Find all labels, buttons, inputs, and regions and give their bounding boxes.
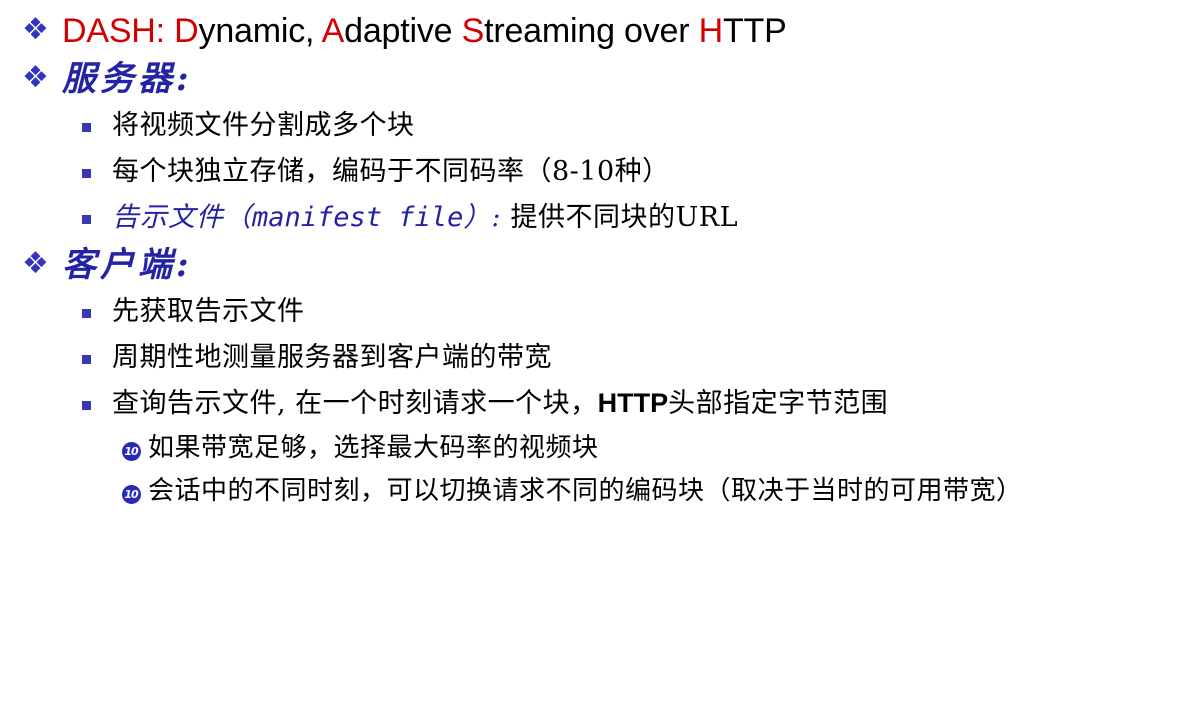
title-segment-ynamic: ynamic,	[199, 12, 322, 50]
square-bullet-icon	[82, 150, 112, 195]
client-item-3-pre: 查询告示文件, 在一个时刻请求一个块，	[112, 388, 598, 419]
manifest-label-cjk: 告示文件（	[112, 202, 252, 233]
sub-list-item: 10 如果带宽足够，选择最大码率的视频块	[10, 428, 1194, 471]
client-subitem-1-label: 如果带宽足够，选择最大码率的视频块	[148, 428, 1194, 469]
presentation-slide: ❖ DASH: Dynamic, Adaptive Streaming over…	[0, 0, 1204, 720]
diamond-bullet-icon: ❖	[22, 8, 62, 52]
server-item-3: 告示文件（manifest file）: 提供不同块的URL	[112, 196, 1194, 239]
list-item: 查询告示文件, 在一个时刻请求一个块，HTTP头部指定字节范围	[10, 382, 1194, 427]
client-item-3-protocol: HTTP	[598, 388, 669, 418]
title-segment-a: A	[322, 12, 344, 50]
circled-ten-bullet-label: 10	[122, 442, 141, 461]
client-item-3: 查询告示文件, 在一个时刻请求一个块，HTTP头部指定字节范围	[112, 382, 1194, 425]
slide-title-row: ❖ DASH: Dynamic, Adaptive Streaming over…	[10, 8, 1194, 54]
square-bullet-icon	[82, 104, 112, 149]
title-segment-space	[165, 12, 174, 50]
section-heading-server-row: ❖ 服务器:	[10, 56, 1194, 102]
section-heading-server: 服务器:	[62, 56, 1194, 102]
title-segment-ttp: TTP	[723, 12, 787, 50]
diamond-bullet-icon: ❖	[22, 56, 62, 100]
list-item: 将视频文件分割成多个块	[10, 104, 1194, 149]
client-item-2-label: 周期性地测量服务器到客户端的带宽	[112, 336, 1194, 379]
list-item: 先获取告示文件	[10, 290, 1194, 335]
sub-list-item: 10 会话中的不同时刻，可以切换请求不同的编码块（取决于当时的可用带宽）	[10, 471, 1194, 514]
page-title: DASH: Dynamic, Adaptive Streaming over H…	[62, 8, 1194, 54]
list-item: 每个块独立存储，编码于不同码率（8-10种）	[10, 150, 1194, 195]
client-item-3-post: 头部指定字节范围	[668, 388, 888, 419]
title-segment-treaming-over: treaming over	[484, 12, 699, 50]
section-heading-client: 客户端:	[62, 242, 1194, 288]
title-segment-d: D	[174, 12, 198, 50]
title-segment-dash: DASH:	[62, 12, 165, 50]
manifest-label-cjk-close: ）:	[463, 202, 501, 233]
title-segment-h: H	[699, 12, 723, 50]
square-bullet-icon	[82, 196, 112, 241]
circled-ten-bullet-label: 10	[122, 485, 141, 504]
title-segment-s: S	[462, 12, 484, 50]
manifest-label-mono: manifest file	[252, 202, 463, 233]
square-bullet-icon	[82, 290, 112, 335]
list-item: 周期性地测量服务器到客户端的带宽	[10, 336, 1194, 381]
server-item-1-label: 将视频文件分割成多个块	[112, 104, 1194, 147]
diamond-bullet-icon: ❖	[22, 242, 62, 286]
server-item-2-label: 每个块独立存储，编码于不同码率（8-10种）	[112, 150, 1194, 193]
circled-ten-bullet-icon: 10	[122, 428, 148, 471]
square-bullet-icon	[82, 382, 112, 427]
circled-ten-bullet-icon: 10	[122, 471, 148, 514]
client-subitem-2-label: 会话中的不同时刻，可以切换请求不同的编码块（取决于当时的可用带宽）	[148, 471, 1194, 512]
section-heading-client-row: ❖ 客户端:	[10, 242, 1194, 288]
client-item-1-label: 先获取告示文件	[112, 290, 1194, 333]
list-item: 告示文件（manifest file）: 提供不同块的URL	[10, 196, 1194, 241]
square-bullet-icon	[82, 336, 112, 381]
manifest-description: 提供不同块的URL	[501, 202, 738, 233]
title-segment-daptive: daptive	[344, 12, 461, 50]
